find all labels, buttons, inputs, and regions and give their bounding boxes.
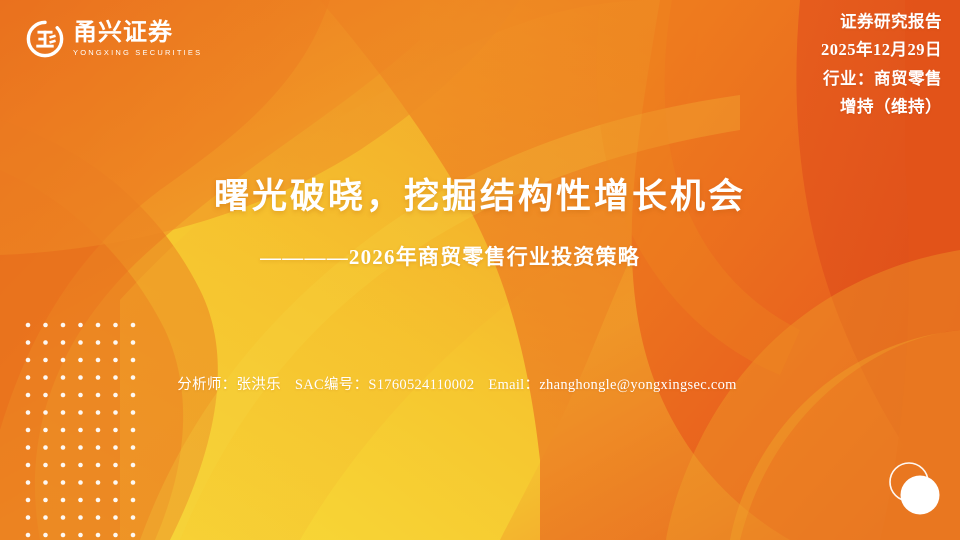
report-type-label: 证券研究报告	[821, 8, 942, 36]
analyst-label: 分析师：	[177, 377, 236, 393]
analyst-email[interactable]: zhanghongle@yongxingsec.com	[539, 377, 736, 393]
sac-number: S1760524110002	[368, 377, 474, 393]
brand-name-cn: 甬兴证券	[73, 21, 202, 45]
presentation-cover-slide: 甬兴证券 YONGXING SECURITIES 证券研究报告 2025年12月…	[0, 0, 960, 540]
email-label: Email：	[488, 377, 539, 393]
analyst-info-line: 分析师：张洪乐SAC编号：S1760524110002Email：zhangho…	[0, 373, 960, 394]
page-title: 曙光破晓，挖掘结构性增长机会	[0, 168, 960, 219]
header-meta-block: 证券研究报告 2025年12月29日 行业：商贸零售 增持（维持）	[821, 8, 942, 122]
brand-name-en: YONGXING SECURITIES	[73, 49, 202, 57]
industry-label: 行业：商贸零售	[821, 65, 942, 93]
analyst-name: 张洪乐	[236, 377, 280, 393]
yongxing-monogram-icon	[26, 20, 64, 58]
brand-logo[interactable]: 甬兴证券 YONGXING SECURITIES	[26, 20, 202, 58]
report-date: 2025年12月29日	[821, 36, 942, 64]
page-subtitle: ————2026年商贸零售行业投资策略	[0, 241, 960, 271]
rating-badge: 增持（维持）	[821, 93, 942, 121]
sac-label: SAC编号：	[295, 377, 369, 393]
